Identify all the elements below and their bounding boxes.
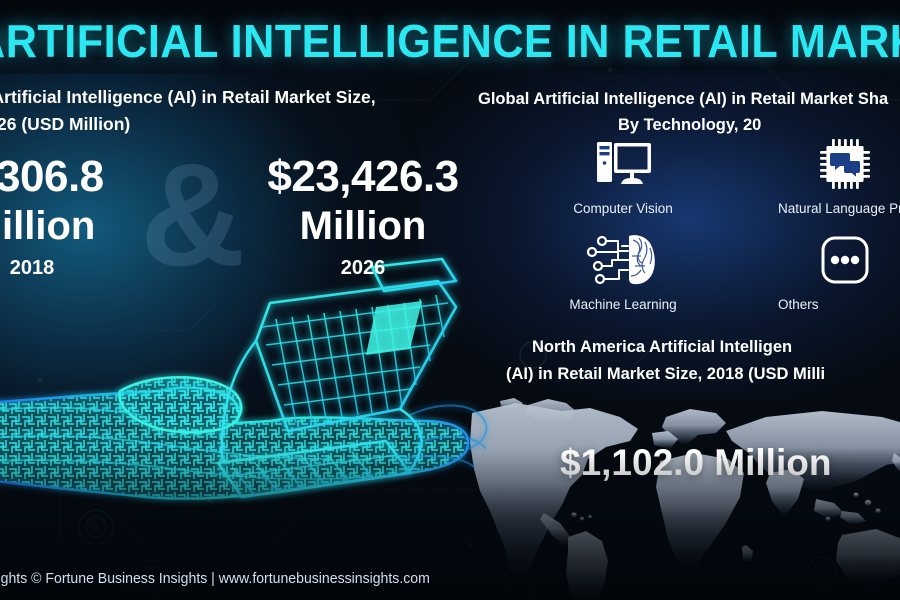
market-size-2018: 2,306.8 Million 2018 — [0, 152, 182, 282]
microchip-speech-icon — [740, 134, 900, 194]
market-size-2026-unit: Million — [213, 202, 513, 250]
technology-label-others: Others — [740, 296, 900, 314]
page-title: ARTIFICIAL INTELLIGENCE IN RETAIL MARKE — [0, 14, 876, 68]
market-size-2026-year: 2026 — [213, 254, 513, 282]
ellipsis-box-icon — [740, 230, 900, 290]
technology-item-natural-language-processing: Natural Language Proces — [740, 134, 900, 218]
market-size-2026-value: $23,426.3 — [213, 152, 513, 202]
technology-label-natural-language-processing: Natural Language Proces — [740, 200, 900, 218]
market-size-2018-year: 2018 — [0, 254, 182, 282]
right-panel-heading: Global Artificial Intelligence (AI) in R… — [420, 86, 900, 138]
market-size-2026: $23,426.3 Million 2026 — [213, 152, 513, 282]
circuit-brain-icon — [518, 230, 728, 290]
north-america-heading-line-2: (AI) in Retail Market Size, 2018 (USD Mi… — [430, 361, 900, 388]
left-heading-line-1: bal Artificial Intelligence (AI) in Reta… — [0, 84, 402, 111]
north-america-heading-line-1: North America Artificial Intelligen — [430, 334, 900, 361]
copyright-footer: pyrights © Fortune Business Insights | w… — [0, 569, 851, 589]
technology-segment-grid: Computer Vision — [500, 134, 900, 314]
infographic-canvas: %% — [0, 0, 900, 600]
north-america-heading: North America Artificial Intelligen (AI)… — [430, 334, 900, 388]
technology-label-computer-vision: Computer Vision — [518, 200, 728, 218]
market-size-2018-unit: Million — [0, 202, 182, 250]
market-size-2018-value: 2,306.8 — [0, 152, 182, 202]
technology-item-computer-vision: Computer Vision — [518, 134, 728, 218]
technology-label-machine-learning: Machine Learning — [518, 296, 728, 314]
technology-item-others: Others — [740, 230, 900, 314]
right-heading-line-1: Global Artificial Intelligence (AI) in R… — [420, 86, 900, 112]
desktop-computer-icon — [518, 134, 728, 194]
technology-item-machine-learning: Machine Learning — [518, 230, 728, 314]
left-panel-heading: bal Artificial Intelligence (AI) in Reta… — [0, 84, 402, 138]
